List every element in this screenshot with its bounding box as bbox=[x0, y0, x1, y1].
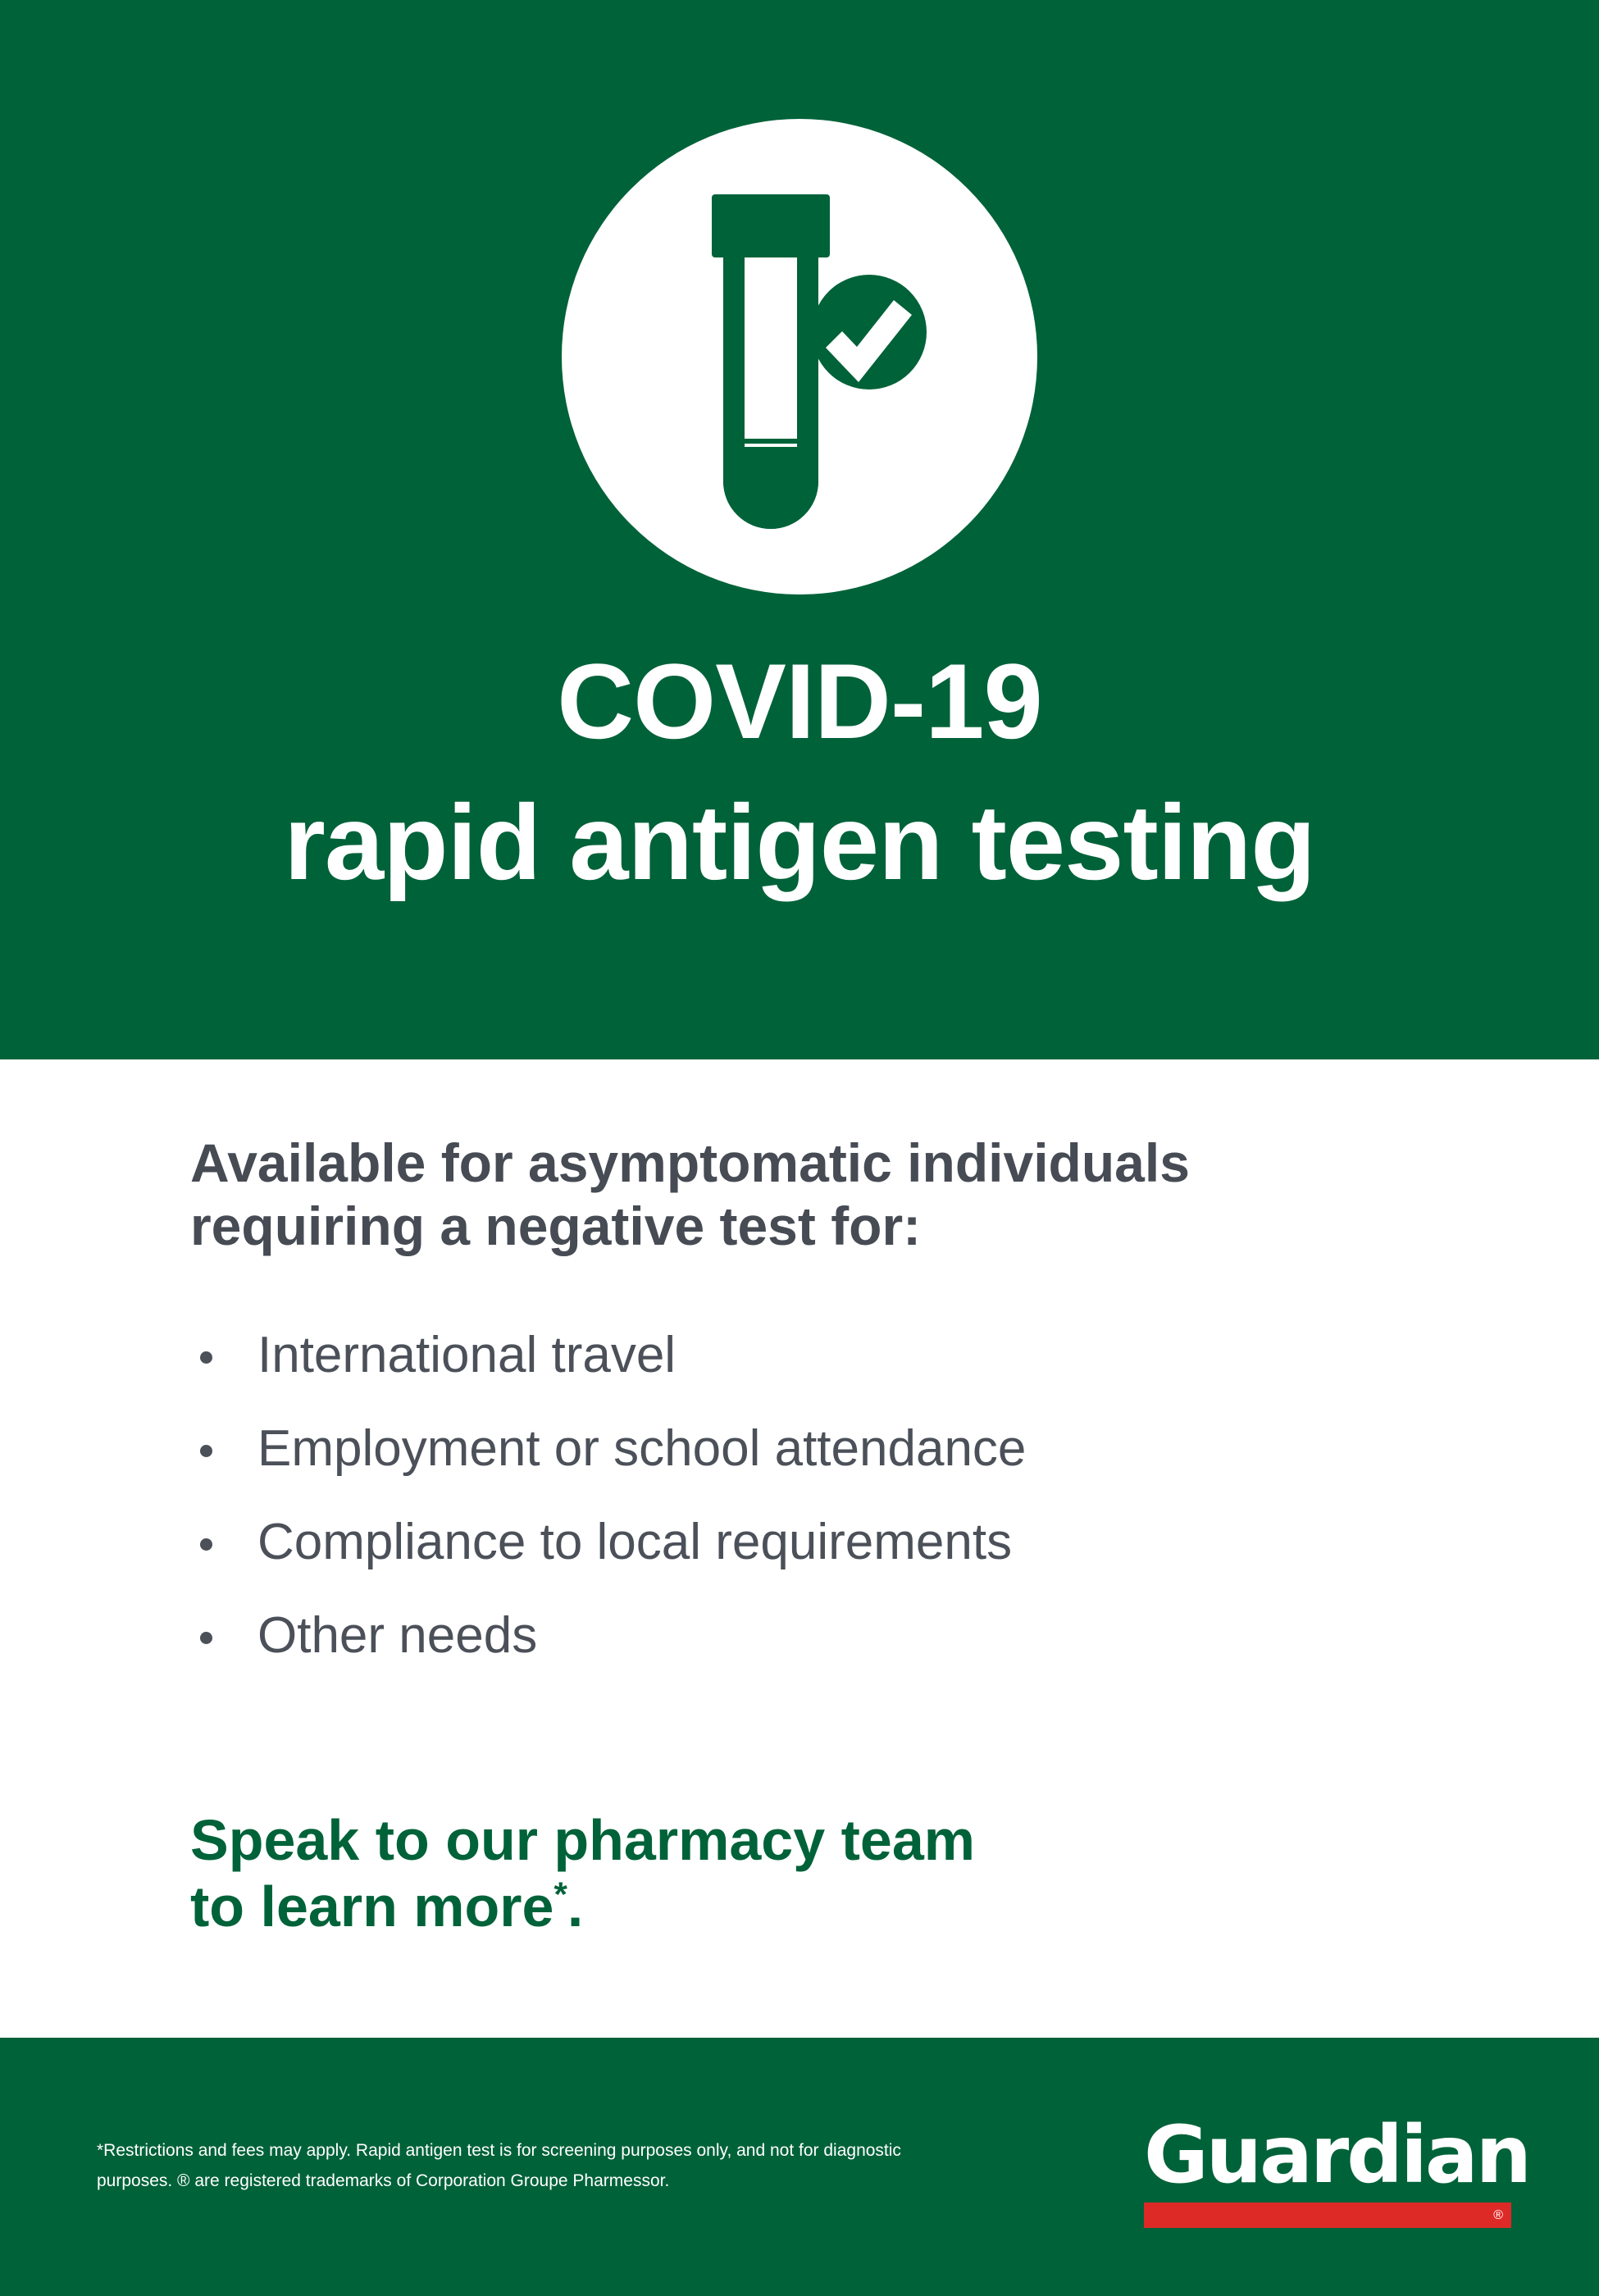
logo-red-bar: ® bbox=[1144, 2203, 1511, 2228]
title-line-rapid-antigen-testing: rapid antigen testing bbox=[0, 789, 1599, 895]
list-item-label: Employment or school attendance bbox=[257, 1420, 1026, 1477]
subheading-line-1: Available for asymptomatic individuals bbox=[190, 1132, 1519, 1195]
guardian-wordmark: Guardian bbox=[1144, 2116, 1521, 2194]
cta-line-1: Speak to our pharmacy team bbox=[190, 1807, 1420, 1874]
page-title: COVID-19 rapid antigen testing bbox=[0, 648, 1599, 895]
list-item-label: Compliance to local requirements bbox=[257, 1514, 1012, 1570]
cta-line-2: to learn more*. bbox=[190, 1874, 1420, 1940]
list-item: International travel bbox=[190, 1330, 1535, 1381]
cta-line-2-text: to learn more bbox=[190, 1875, 553, 1938]
bullet-dot-icon bbox=[200, 1632, 212, 1644]
subheading-line-2: requiring a negative test for: bbox=[190, 1195, 1519, 1258]
guardian-logo: Guardian ® bbox=[1144, 2116, 1521, 2228]
list-item: Compliance to local requirements bbox=[190, 1517, 1535, 1568]
poster-canvas: COVID-19 rapid antigen testing Available… bbox=[0, 0, 1599, 2296]
list-item-label: International travel bbox=[257, 1327, 676, 1383]
list-item: Other needs bbox=[190, 1610, 1535, 1661]
call-to-action: Speak to our pharmacy team to learn more… bbox=[190, 1807, 1420, 1940]
title-line-covid19: COVID-19 bbox=[0, 648, 1599, 754]
registered-trademark-icon: ® bbox=[1493, 2209, 1503, 2222]
subheading: Available for asymptomatic individuals r… bbox=[190, 1132, 1519, 1258]
bullet-dot-icon bbox=[200, 1445, 212, 1457]
test-tube-check-icon bbox=[562, 119, 1037, 594]
eligibility-list: International travel Employment or schoo… bbox=[190, 1330, 1535, 1704]
bullet-dot-icon bbox=[200, 1351, 212, 1364]
list-item: Employment or school attendance bbox=[190, 1424, 1535, 1474]
legal-disclaimer: *Restrictions and fees may apply. Rapid … bbox=[97, 2136, 933, 2197]
cta-footnote-asterisk: * bbox=[553, 1875, 567, 1914]
footer-band: *Restrictions and fees may apply. Rapid … bbox=[0, 2038, 1599, 2296]
main-content: Available for asymptomatic individuals r… bbox=[0, 1059, 1599, 2038]
cta-period: . bbox=[567, 1875, 583, 1938]
bullet-dot-icon bbox=[200, 1538, 212, 1551]
list-item-label: Other needs bbox=[257, 1607, 537, 1664]
header-band: COVID-19 rapid antigen testing bbox=[0, 0, 1599, 1059]
